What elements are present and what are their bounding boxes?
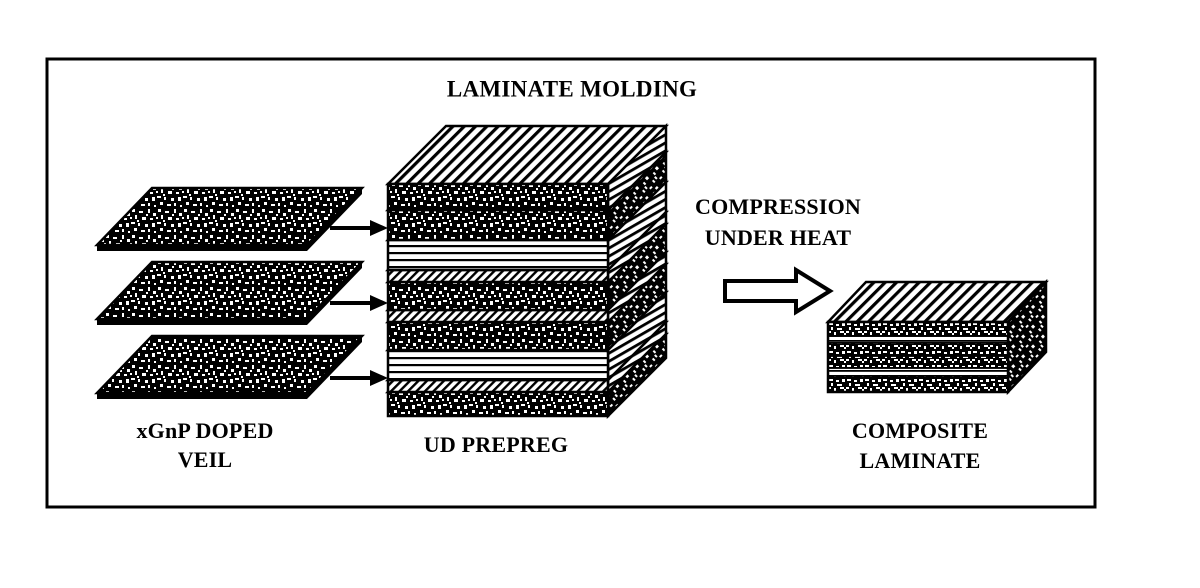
feed-arrow-top [330,220,388,236]
xgnp-doped-veil-sheets [97,188,362,399]
composite-label-line2: LAMINATE [860,448,981,473]
feed-arrow-bottom [330,370,388,386]
prepreg-label: UD PREPREG [424,432,568,457]
veil-sheet-top [97,188,362,251]
composite-band-5 [828,368,1008,376]
compression-block-arrow [725,270,830,312]
ud-prepreg-stack [388,126,666,416]
composite-band-6 [828,376,1008,392]
veil-sheet-bottom [97,336,362,399]
composite-front-bands [828,322,1008,392]
composite-laminate-block [828,282,1046,392]
laminate-molding-diagram: LAMINATE MOLDING xGnP DOPED [0,0,1200,588]
feed-arrow-middle [330,295,388,311]
composite-label-line1: COMPOSITE [852,418,988,443]
veil-sheet-middle [97,262,362,325]
composite-band-1 [828,322,1008,336]
compression-label-line2: UNDER HEAT [705,225,852,250]
veil-label-line1: xGnP DOPED [136,418,273,443]
compression-label-line1: COMPRESSION [695,194,861,219]
page-title: LAMINATE MOLDING [447,76,697,101]
composite-band-2 [828,336,1008,343]
composite-band-3 [828,343,1008,356]
composite-band-4 [828,356,1008,368]
veil-label-line2: VEIL [178,447,233,472]
figure-stage: LAMINATE MOLDING xGnP DOPED [0,0,1200,588]
